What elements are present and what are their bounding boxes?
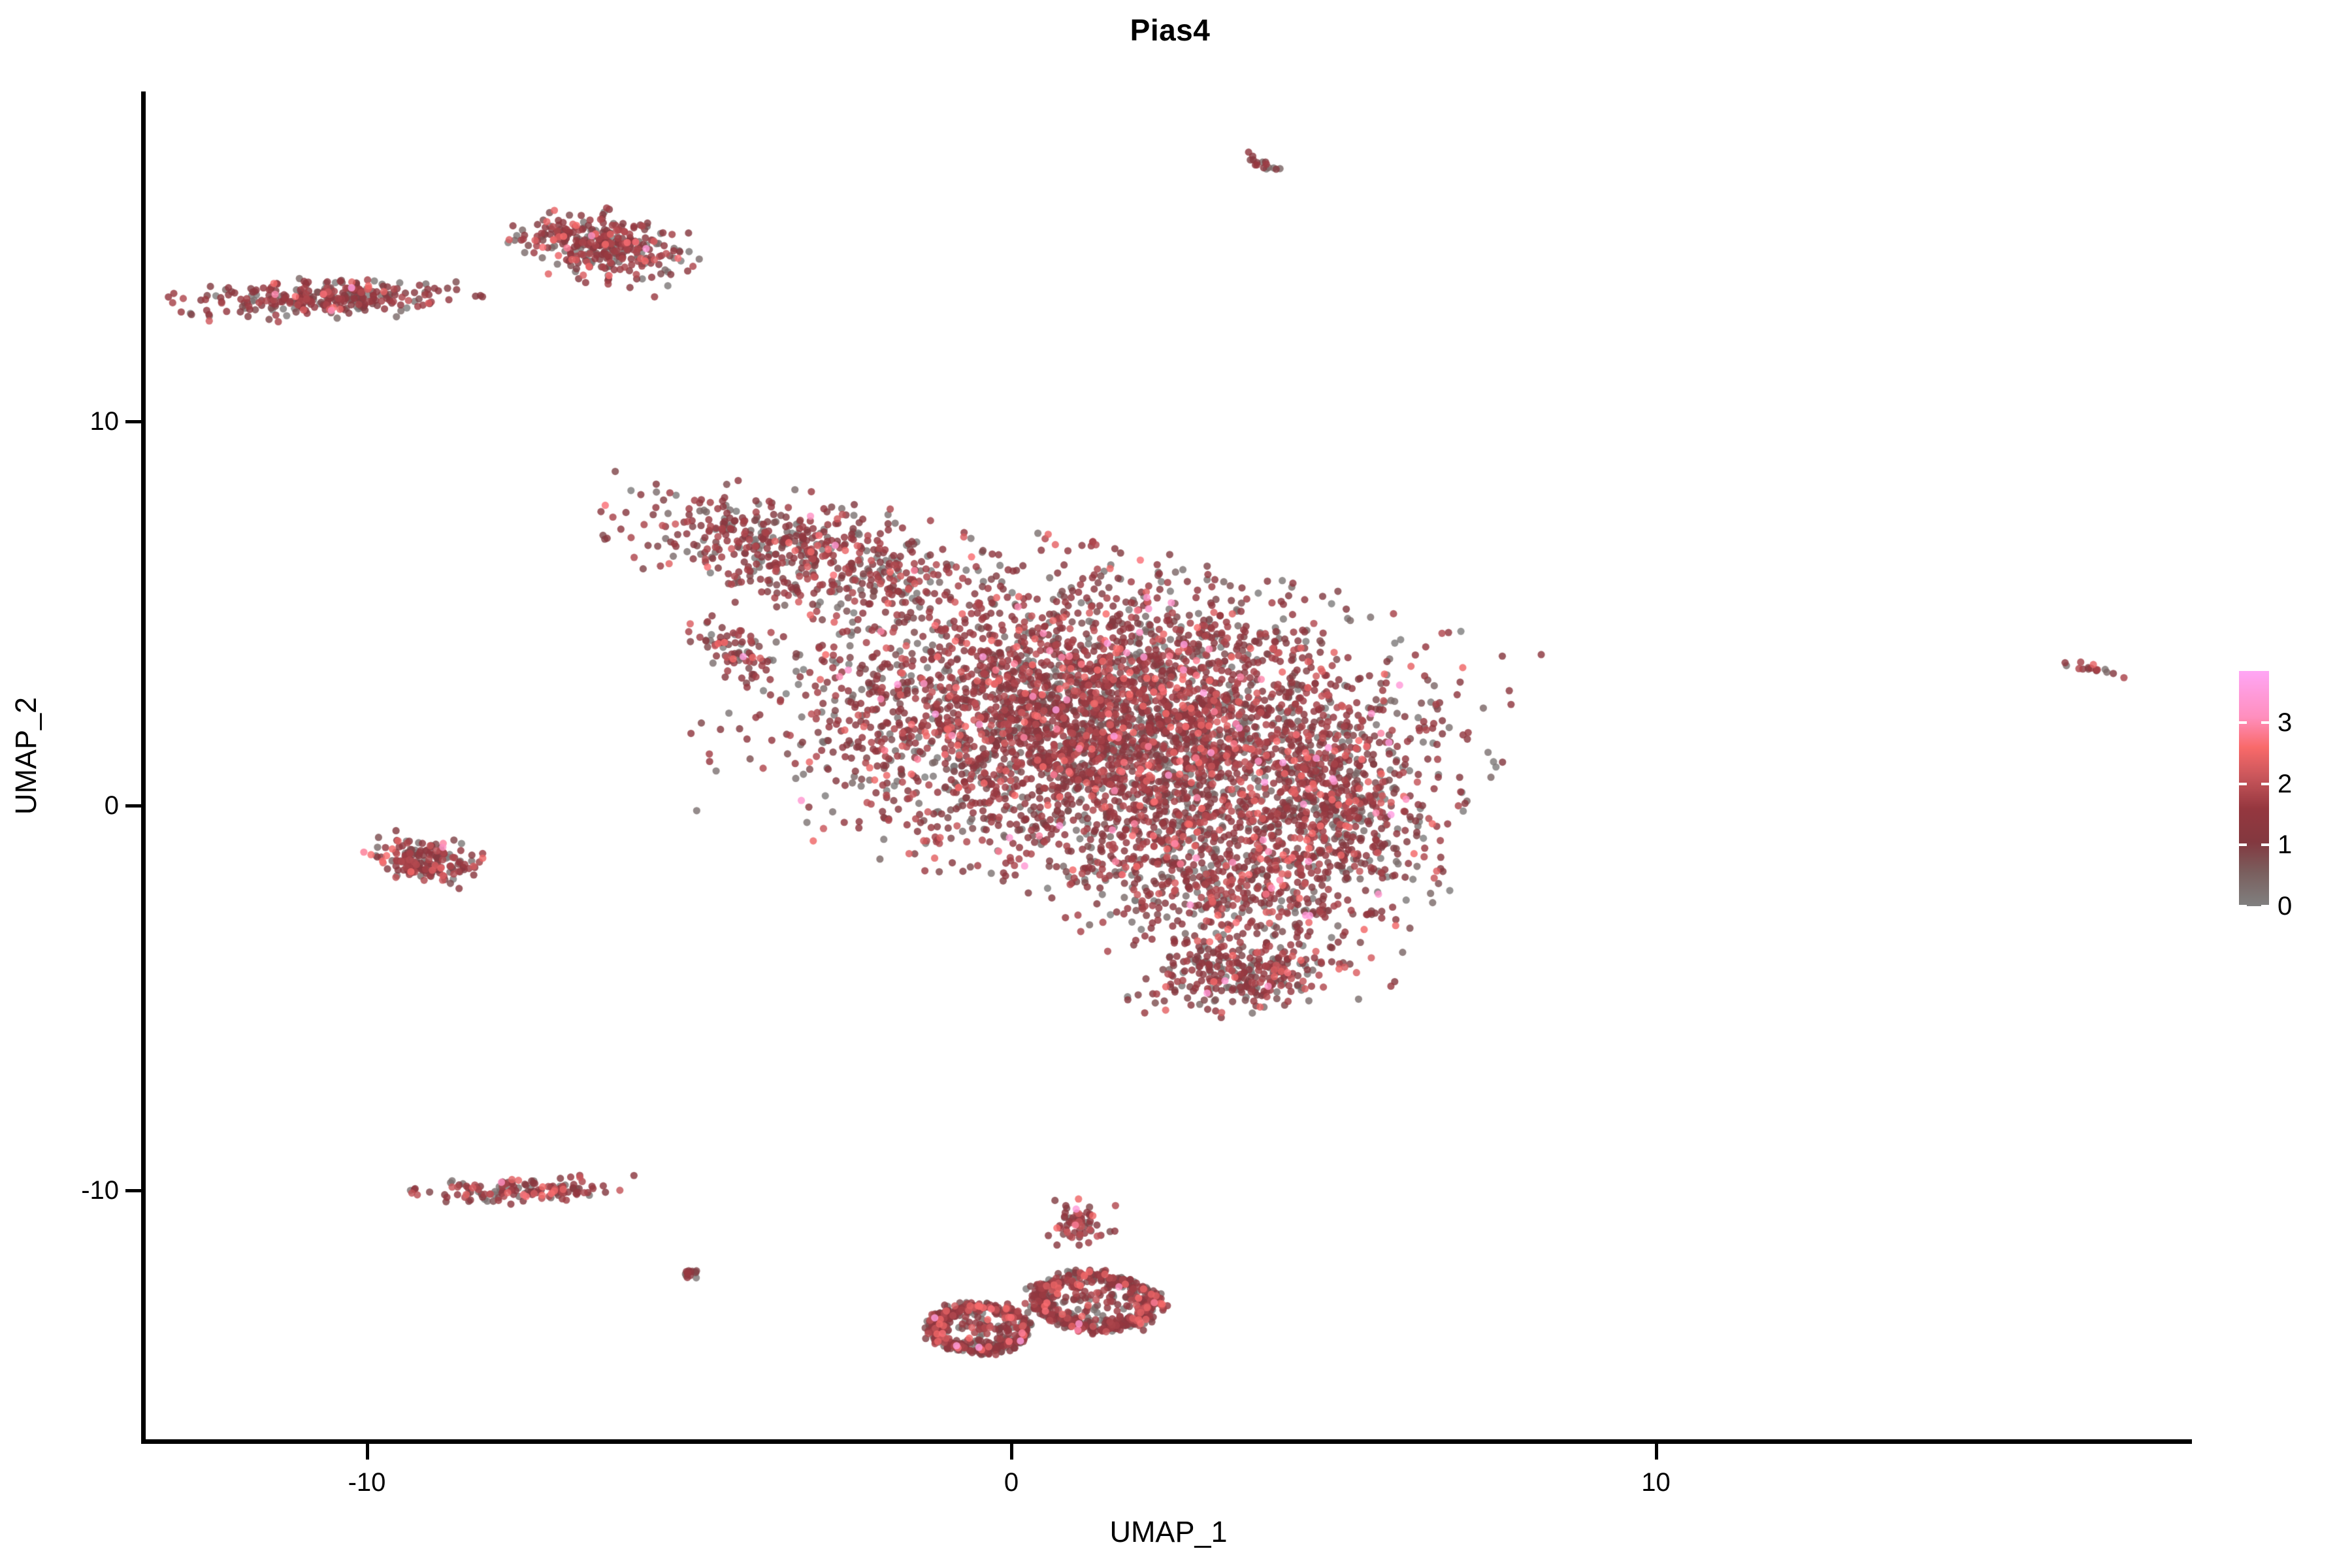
x-tick-mark	[1010, 1444, 1013, 1460]
page-title: Pias4	[0, 12, 2346, 48]
colorbar-tick-mark	[2261, 905, 2269, 907]
colorbar-tick-mark	[2261, 843, 2269, 846]
y-tick-mark	[125, 1189, 141, 1192]
colorbar-gradient	[2239, 671, 2269, 906]
colorbar-tick-mark	[2239, 905, 2247, 907]
colorbar-tick-mark	[2239, 721, 2247, 724]
y-tick-mark	[125, 804, 141, 808]
x-tick-label: -10	[348, 1467, 386, 1497]
y-tick-mark	[125, 420, 141, 423]
scatter-canvas	[145, 91, 2192, 1441]
color-legend: 0123	[2234, 663, 2345, 918]
colorbar-tick-label: 1	[2278, 830, 2292, 860]
x-tick-label: 0	[1004, 1467, 1019, 1497]
y-tick-label: 0	[105, 791, 119, 821]
colorbar-tick-label: 3	[2278, 708, 2292, 738]
x-tick-mark	[366, 1444, 369, 1460]
y-axis-line	[141, 91, 146, 1444]
feature-plot-root: Pias4 -10010 -10010 UMAP_1 UMAP_2 0123	[0, 0, 2352, 1568]
y-axis-title: UMAP_2	[8, 495, 44, 1017]
colorbar-tick-label: 2	[2278, 769, 2292, 799]
colorbar-tick-mark	[2261, 783, 2269, 785]
colorbar-tick-mark	[2239, 783, 2247, 785]
x-axis-line	[141, 1439, 2192, 1444]
x-tick-label: 10	[1641, 1467, 1671, 1497]
plot-panel	[145, 91, 2192, 1441]
colorbar-tick-label: 0	[2278, 891, 2292, 921]
colorbar-tick-mark	[2239, 843, 2247, 846]
y-tick-label: 10	[90, 406, 120, 436]
x-axis-title: UMAP_1	[145, 1514, 2192, 1550]
colorbar-tick-mark	[2261, 721, 2269, 724]
x-tick-mark	[1655, 1444, 1658, 1460]
y-tick-label: -10	[81, 1175, 119, 1205]
